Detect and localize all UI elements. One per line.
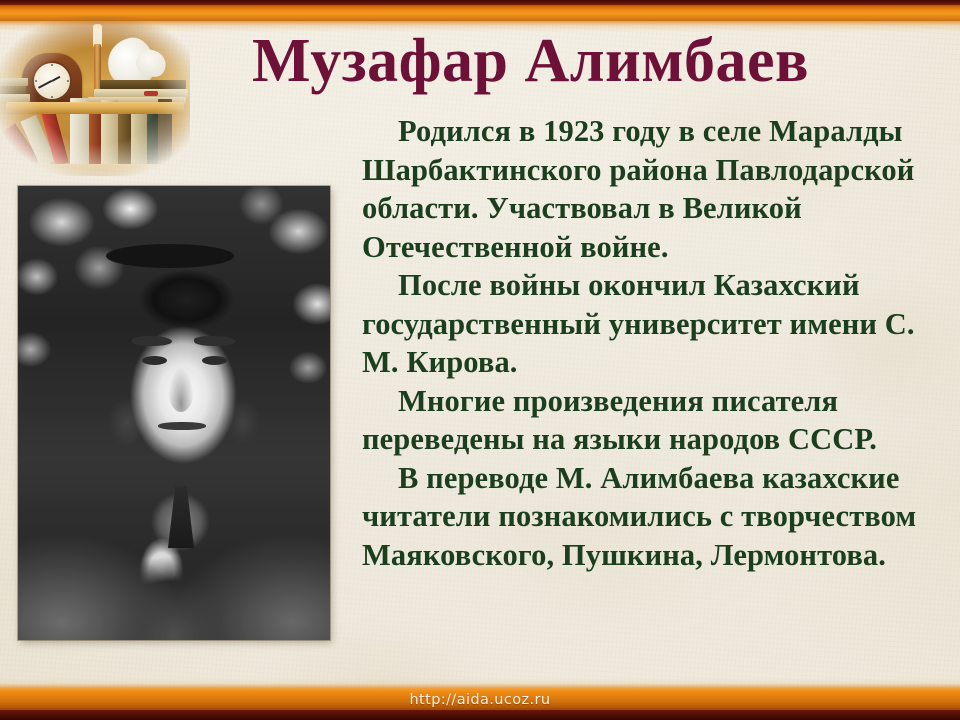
shelf-board xyxy=(6,102,184,114)
bookshelf-decoration-image xyxy=(0,16,190,176)
paragraph-3: Многие произведения писателя переведены … xyxy=(362,382,956,459)
clock-tick xyxy=(35,80,37,82)
shelf-board xyxy=(2,164,188,174)
portrait-photo xyxy=(18,186,330,640)
eye-right xyxy=(202,356,227,365)
bottom-dark-border xyxy=(0,710,960,720)
footer-url-text: http://aida.ucoz.ru xyxy=(0,690,960,710)
upright-book xyxy=(118,108,131,164)
paragraph-4: В переводе М. Алимбаева казахские читате… xyxy=(362,459,956,575)
body-text-block: Родился в 1923 году в селе Маралды Шарба… xyxy=(362,112,956,574)
clock-tick xyxy=(51,64,53,66)
nose-shadow xyxy=(168,368,194,412)
paragraph-1: Родился в 1923 году в селе Маралды Шарба… xyxy=(362,112,956,266)
flat-book xyxy=(0,86,26,94)
eyebrow-right xyxy=(194,336,236,346)
flat-book xyxy=(0,78,28,86)
flat-book xyxy=(100,80,186,89)
mouth xyxy=(158,422,206,430)
eye-left xyxy=(142,356,167,365)
skullcap-brim xyxy=(106,244,234,268)
paragraph-2: После войны окончил Казахский государств… xyxy=(362,266,956,382)
upright-book xyxy=(147,106,158,164)
flat-book xyxy=(94,89,188,97)
eyebrow-left xyxy=(132,336,172,346)
slide-canvas: Музафар Алимбаев Родился в 1923 году в с… xyxy=(0,0,960,720)
clock-tick xyxy=(67,80,69,82)
flat-book xyxy=(0,94,30,102)
page-title: Музафар Алимбаев xyxy=(252,28,952,94)
bottom-band-fade xyxy=(0,678,960,688)
clock-tick xyxy=(51,96,53,98)
book-bookmark xyxy=(144,91,158,96)
